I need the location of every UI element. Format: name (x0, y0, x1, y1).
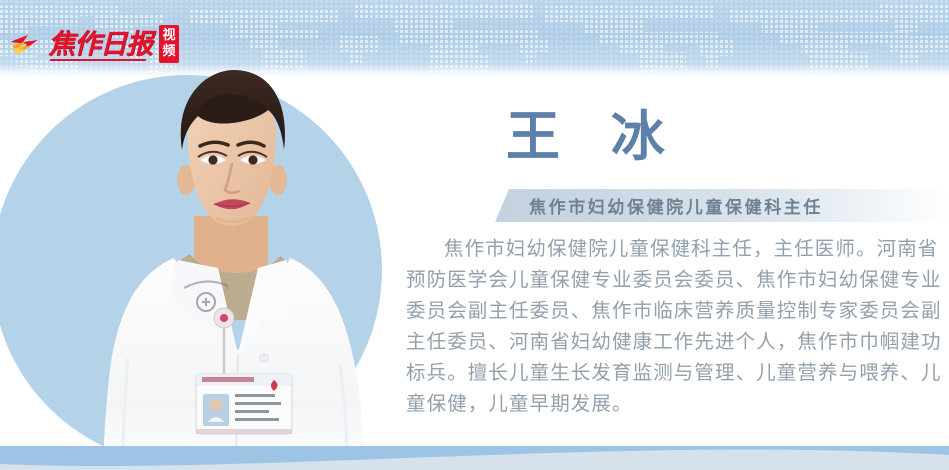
person-name: 王 冰 (506, 110, 681, 164)
arrow-flame-icon (8, 29, 44, 59)
publisher-logo[interactable]: 焦作日报 视 频 (8, 22, 179, 66)
footer-bar (0, 446, 949, 470)
bottom-wave-shape (0, 446, 949, 470)
logo-underline (50, 59, 147, 61)
video-badge-char-1: 视 (162, 28, 175, 44)
video-badge[interactable]: 视 频 (159, 25, 179, 63)
video-badge-char-2: 频 (162, 44, 175, 60)
person-title-banner: 焦作市妇幼保健院儿童保健科主任 (495, 189, 949, 222)
person-title-text: 焦作市妇幼保健院儿童保健科主任 (529, 193, 823, 218)
publisher-name: 焦作日报 (48, 26, 152, 62)
person-bio: 焦作市妇幼保健院儿童保健科主任，主任医师。河南省预防医学会儿童保健专业委员会委员… (406, 233, 946, 419)
profile-card: 焦作日报 视 频 (0, 0, 949, 470)
portrait-photo (78, 58, 398, 470)
publisher-name-text: 焦作日报 (48, 31, 152, 58)
